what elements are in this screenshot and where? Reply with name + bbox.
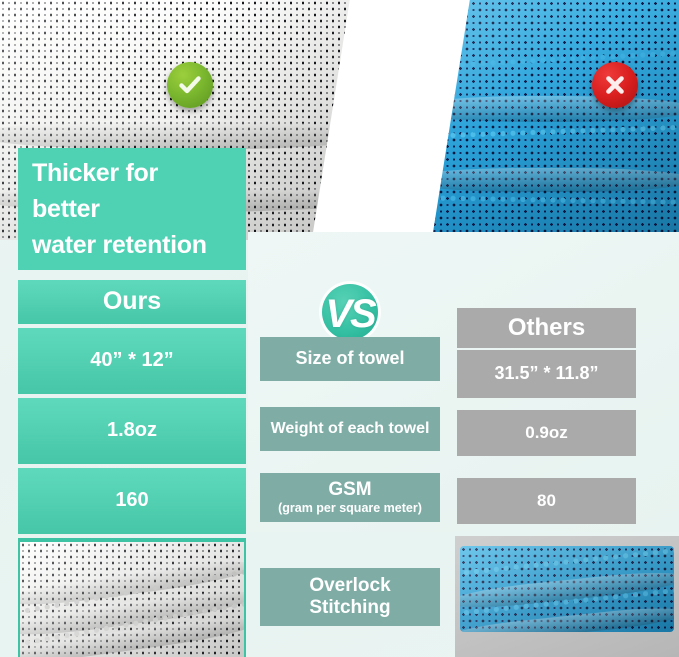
headline-line-2: water retention <box>32 227 232 263</box>
ours-value-weight: 1.8oz <box>18 398 246 464</box>
column-header-ours: Ours <box>18 280 246 324</box>
attribute-size-of-towel: Size of towel <box>260 337 440 381</box>
others-value-size: 31.5” * 11.8” <box>457 350 636 398</box>
photo-bottom-left-white-towel-stitching <box>20 542 244 657</box>
column-header-others-label: Others <box>508 314 585 342</box>
others-value-weight: 0.9oz <box>457 410 636 456</box>
ours-value-size: 40” * 12” <box>18 328 246 394</box>
infographic-root: Thicker for better water retention Ours … <box>0 0 679 657</box>
photo-bottom-right-blue-towel-stitching <box>460 546 674 632</box>
others-value-gsm-label: 80 <box>537 491 556 511</box>
vs-label: VS <box>316 292 384 337</box>
column-header-others: Others <box>457 308 636 348</box>
attribute-gsm: GSM (gram per square meter) <box>260 473 440 522</box>
others-value-size-label: 31.5” * 11.8” <box>494 363 598 384</box>
ours-value-gsm: 160 <box>18 468 246 534</box>
column-header-ours-label: Ours <box>103 287 161 317</box>
others-value-gsm: 80 <box>457 478 636 524</box>
check-circle-icon <box>167 62 213 108</box>
ours-value-gsm-label: 160 <box>115 489 148 513</box>
attribute-size-of-towel-label: Size of towel <box>295 348 404 369</box>
headline-box: Thicker for better water retention <box>18 148 246 270</box>
attribute-gsm-sublabel: (gram per square meter) <box>278 501 422 516</box>
others-value-weight-label: 0.9oz <box>525 423 568 443</box>
attribute-overlock-stitching: Overlock Stitching <box>260 568 440 626</box>
cross-circle-icon <box>592 62 638 108</box>
headline-line-1: Thicker for better <box>32 155 232 228</box>
attribute-overlock-stitching-line-1: Overlock <box>309 575 390 597</box>
attribute-weight-of-each-towel: Weight of each towel <box>260 407 440 451</box>
attribute-overlock-stitching-line-2: Stitching <box>309 597 390 619</box>
ours-value-size-label: 40” * 12” <box>90 349 173 373</box>
attribute-gsm-label: GSM <box>328 479 371 501</box>
attribute-weight-of-each-towel-label: Weight of each towel <box>271 420 430 439</box>
ours-value-weight-label: 1.8oz <box>107 419 157 443</box>
